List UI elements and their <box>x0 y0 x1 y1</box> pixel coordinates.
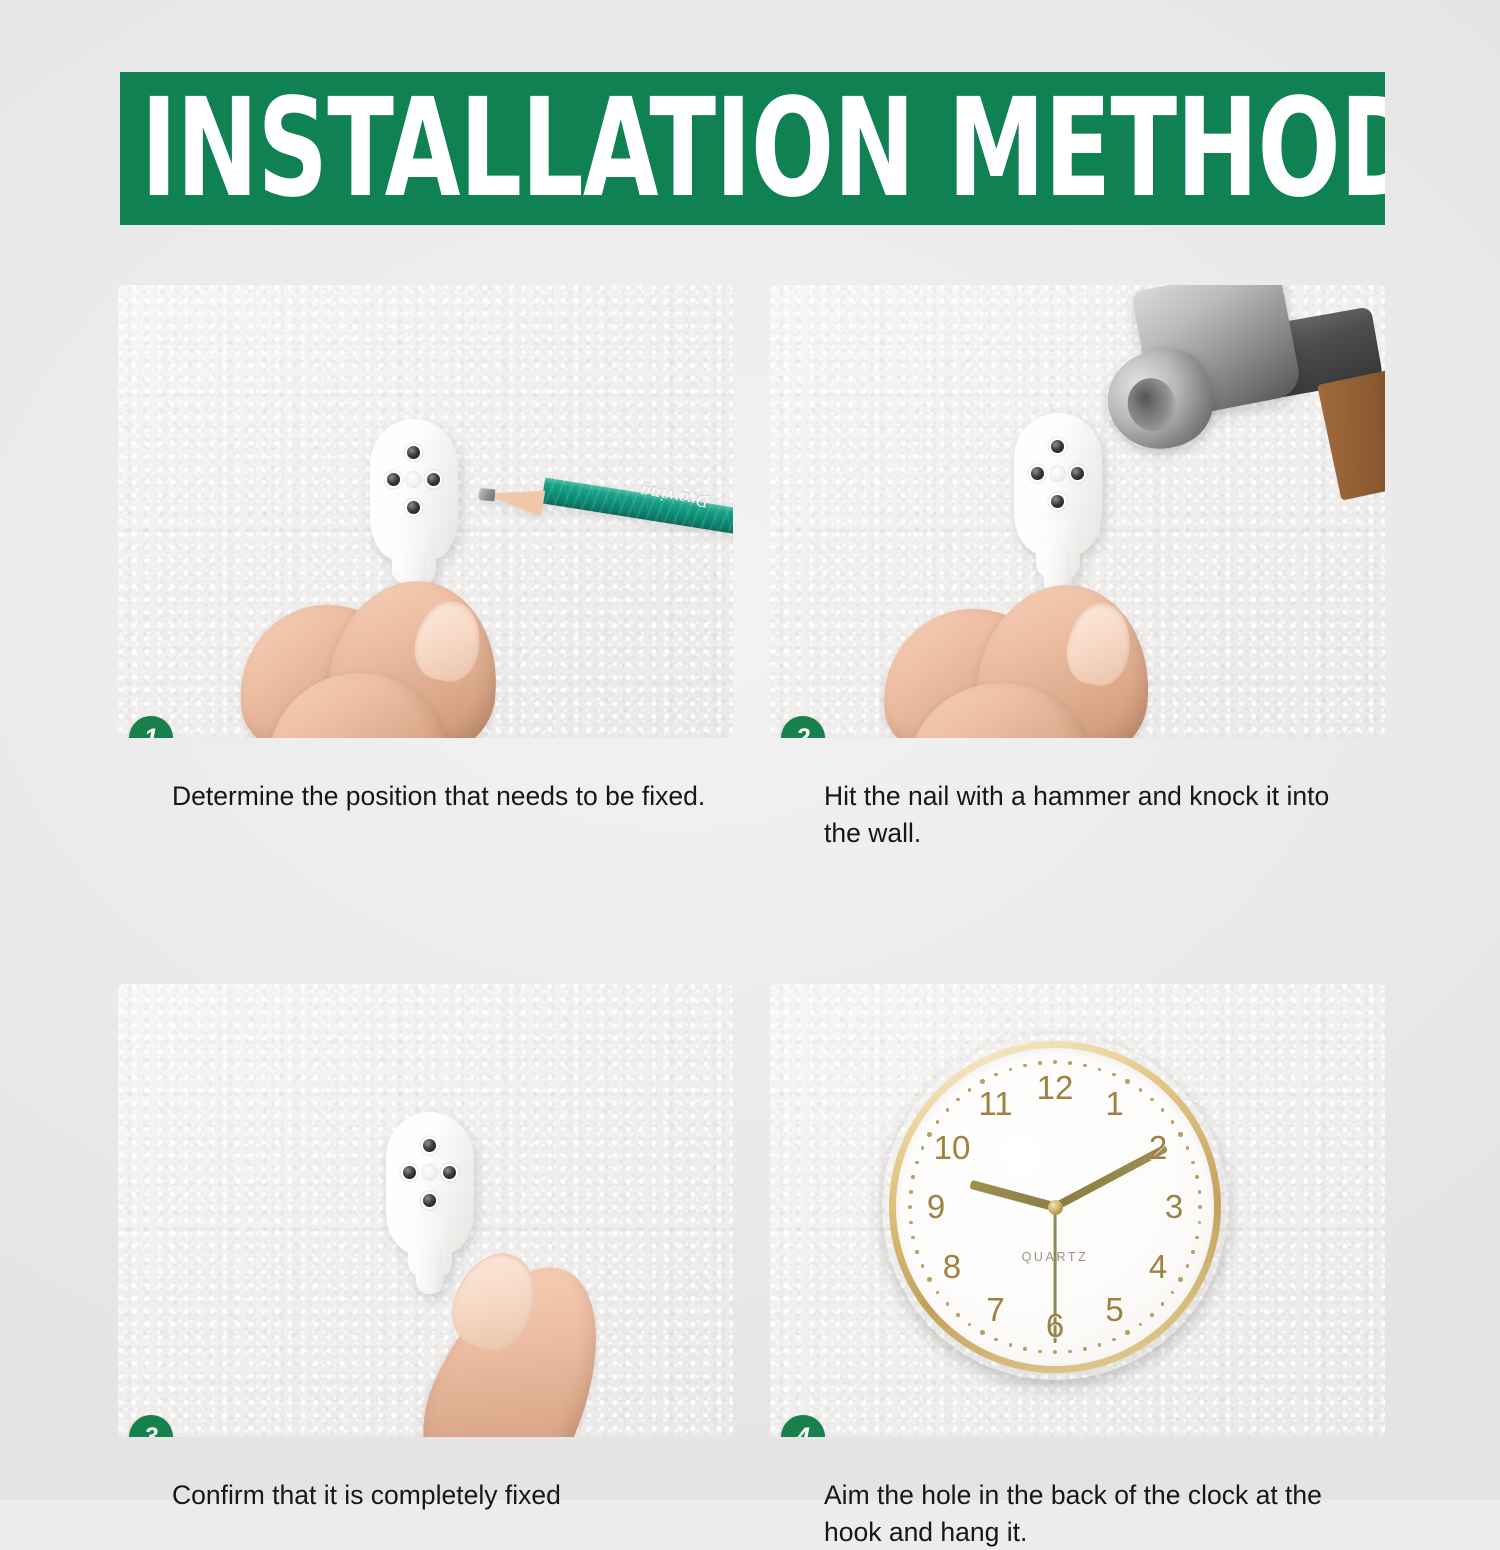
clock-minute-dot <box>1150 1098 1153 1101</box>
clock-minute-dot <box>915 1250 918 1253</box>
clock-numeral-9: 9 <box>927 1188 945 1226</box>
header-banner: INSTALLATION METHOD <box>120 72 1385 225</box>
clock-minute-dot <box>1068 1350 1071 1353</box>
clock-minute-dot <box>1178 1277 1183 1282</box>
clock-minute-dot <box>909 1190 912 1193</box>
nail-head-icon <box>407 446 420 459</box>
hook-center-dimple <box>405 471 422 488</box>
hook-center-dimple <box>421 1164 438 1181</box>
clock-numeral-10: 10 <box>934 1129 971 1167</box>
clock-hour-hand <box>969 1180 1056 1211</box>
wall-clock-icon: QUARTZ 123456789101112 <box>882 1034 1228 1380</box>
step-number: 2 <box>796 724 810 739</box>
clock-minute-dot <box>980 1079 985 1084</box>
nail-head-icon <box>1031 467 1044 480</box>
clock-minute-dot <box>936 1120 939 1123</box>
clock-minute-dot <box>980 1330 985 1335</box>
clock-minute-dot <box>1178 1132 1183 1137</box>
wall-hook-icon <box>370 419 458 597</box>
clock-minute-dot <box>921 1146 924 1149</box>
clock-minute-dot <box>1191 1250 1194 1253</box>
clock-minute-dot <box>1125 1330 1130 1335</box>
clock-minute-dot <box>911 1236 914 1239</box>
clock-minute-dot <box>1038 1350 1041 1353</box>
clock-minute-dot <box>911 1175 914 1178</box>
pencil-graphite-tip <box>478 488 495 501</box>
clock-face: QUARTZ 123456789101112 <box>896 1048 1214 1366</box>
clock-minute-dot <box>1198 1221 1201 1224</box>
wall-hook-icon <box>386 1112 474 1290</box>
clock-minute-dot <box>936 1291 939 1294</box>
clock-minute-dot <box>1098 1068 1101 1071</box>
clock-minute-dot <box>1023 1347 1026 1350</box>
hook-tab <box>413 1239 445 1295</box>
wall-hook-icon <box>1014 413 1102 591</box>
step-photo-3: 3 <box>118 984 733 1437</box>
clock-minute-dot <box>915 1161 918 1164</box>
clock-minute-dot <box>1161 1108 1164 1111</box>
clock-minute-dot <box>956 1098 959 1101</box>
step-caption-3: Confirm that it is completely fixed <box>118 1477 718 1514</box>
clock-numeral-4: 4 <box>1149 1248 1167 1286</box>
step-photo-4: QUARTZ 123456789101112 4 <box>770 984 1385 1437</box>
clock-numeral-1: 1 <box>1105 1085 1123 1123</box>
nail-head-icon <box>427 473 440 486</box>
clock-minute-dot <box>1009 1343 1012 1346</box>
clock-minute-dot <box>1150 1313 1153 1316</box>
clock-minute-dot <box>946 1302 949 1305</box>
nail-head-icon <box>1071 467 1084 480</box>
steps-row-2: 3 Confirm that it is completely fixed QU… <box>118 984 1385 1550</box>
clock-minute-dot <box>1171 1291 1174 1294</box>
clock-numeral-2: 2 <box>1149 1129 1167 1167</box>
clock-numeral-12: 12 <box>1037 1069 1074 1107</box>
clock-minute-dot <box>1195 1175 1198 1178</box>
clock-center-cap <box>1048 1200 1063 1215</box>
step-card-1: Drawing A 1 Determine the positi <box>118 285 733 851</box>
clock-minute-dot <box>1023 1064 1026 1067</box>
clock-minute-dot <box>1068 1061 1071 1064</box>
clock-minute-dot <box>1161 1302 1164 1305</box>
clock-numeral-11: 11 <box>978 1085 1012 1123</box>
nail-head-icon <box>407 501 420 514</box>
clock-minute-dot <box>927 1132 932 1137</box>
steps-row-1: Drawing A 1 Determine the positi <box>118 285 1385 851</box>
clock-minute-dot <box>1186 1264 1189 1267</box>
step-card-3: 3 Confirm that it is completely fixed <box>118 984 733 1550</box>
step-caption-4: Aim the hole in the back of the clock at… <box>770 1477 1370 1550</box>
step-card-2: 2 Hit the nail with a hammer and knock i… <box>770 285 1385 851</box>
clock-minute-dot <box>1171 1120 1174 1123</box>
clock-minute-dot <box>1191 1161 1194 1164</box>
clock-minute-dot <box>968 1323 971 1326</box>
clock-minute-dot <box>1083 1064 1086 1067</box>
clock-numeral-7: 7 <box>986 1291 1004 1329</box>
clock-minute-dot <box>1009 1068 1012 1071</box>
step-number: 4 <box>796 1423 810 1438</box>
clock-minute-dot <box>956 1313 959 1316</box>
clock-numeral-8: 8 <box>943 1248 961 1286</box>
clock-minute-dot <box>1125 1079 1130 1084</box>
clock-minute-dot <box>946 1108 949 1111</box>
clock-numeral-5: 5 <box>1105 1291 1123 1329</box>
clock-minute-dot <box>1098 1343 1101 1346</box>
clock-minute-dot <box>921 1264 924 1267</box>
nail-head-icon <box>1051 440 1064 453</box>
clock-minute-dot <box>1198 1190 1201 1193</box>
clock-minute-dot <box>1139 1323 1142 1326</box>
clock-minute-dot <box>1186 1146 1189 1149</box>
clock-minute-dot <box>994 1073 997 1076</box>
nail-head-icon <box>1051 495 1064 508</box>
clock-minute-dot <box>994 1338 997 1341</box>
clock-minute-dot <box>1053 1060 1058 1065</box>
step-card-4: QUARTZ 123456789101112 4 Aim the hole in… <box>770 984 1385 1550</box>
step-photo-1: Drawing A 1 <box>118 285 733 738</box>
hook-center-dimple <box>1049 465 1066 482</box>
step-photo-2: 2 <box>770 285 1385 738</box>
step-number: 3 <box>144 1423 158 1438</box>
clock-minute-dot <box>908 1205 913 1210</box>
steps-grid: Drawing A 1 Determine the positi <box>118 285 1385 1550</box>
clock-minute-dot <box>1139 1088 1142 1091</box>
clock-minute-dot <box>1038 1061 1041 1064</box>
clock-minute-dot <box>927 1277 932 1282</box>
clock-minute-dot <box>1083 1347 1086 1350</box>
step-number: 1 <box>144 724 158 739</box>
clock-minute-dot <box>1053 1350 1058 1355</box>
clock-minute-dot <box>909 1221 912 1224</box>
clock-numeral-3: 3 <box>1165 1188 1183 1226</box>
clock-minute-dot <box>968 1088 971 1091</box>
page-title: INSTALLATION METHOD <box>120 81 1385 217</box>
clock-minute-dot <box>1112 1338 1115 1341</box>
clock-minute-dot <box>1112 1073 1115 1076</box>
nail-head-icon <box>387 473 400 486</box>
step-caption-2: Hit the nail with a hammer and knock it … <box>770 778 1370 851</box>
clock-minute-dot <box>1195 1236 1198 1239</box>
clock-numeral-6: 6 <box>1046 1307 1064 1345</box>
step-caption-1: Determine the position that needs to be … <box>118 778 718 815</box>
clock-minute-dot <box>1198 1205 1203 1210</box>
